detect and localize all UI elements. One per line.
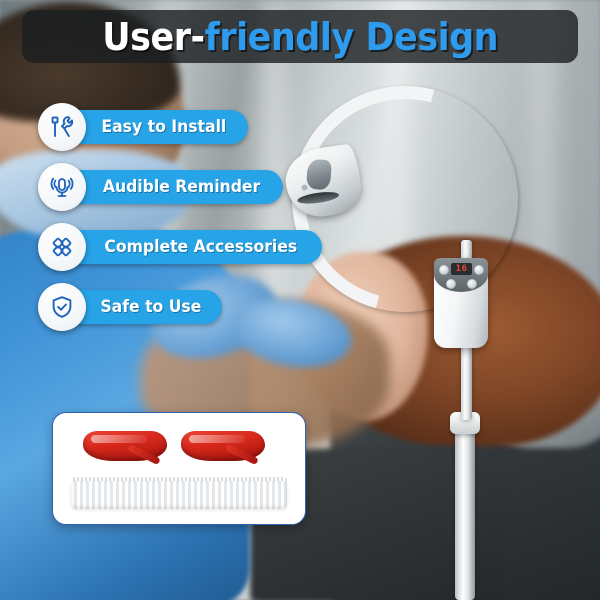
- tools-icon: [49, 114, 75, 140]
- title-banner: User-friendly Design: [22, 10, 578, 63]
- timer-display: 16: [451, 263, 472, 275]
- feature-item-complete-accessories[interactable]: Complete Accessories: [38, 224, 322, 270]
- plus-button[interactable]: [467, 279, 477, 289]
- feature-icon-badge: [38, 223, 86, 271]
- feature-item-easy-to-install[interactable]: Easy to Install: [38, 104, 322, 150]
- feature-pill[interactable]: Complete Accessories: [64, 230, 322, 264]
- red-safety-goggles-1: [83, 431, 167, 471]
- diamonds-icon: [49, 234, 75, 260]
- feature-pill[interactable]: Safe to Use: [64, 290, 222, 324]
- feature-pill[interactable]: Audible Reminder: [64, 170, 283, 204]
- lamp-stand-pole: [455, 420, 475, 600]
- mode-button[interactable]: [474, 265, 484, 275]
- feature-label: Safe to Use: [100, 299, 201, 316]
- minus-button[interactable]: [446, 279, 456, 289]
- feature-icon-badge: [38, 163, 86, 211]
- goggles-highlight: [189, 435, 245, 443]
- control-panel-face: 16: [434, 258, 488, 292]
- feature-item-safe-to-use[interactable]: Safe to Use: [38, 284, 322, 330]
- feature-label: Complete Accessories: [104, 239, 297, 256]
- feature-item-audible-reminder[interactable]: Audible Reminder: [38, 164, 322, 210]
- feature-icon-badge: [38, 103, 86, 151]
- lamp-control-box[interactable]: 16: [434, 258, 488, 348]
- feature-label: Easy to Install: [101, 119, 226, 136]
- power-button[interactable]: [439, 265, 449, 275]
- goggles-highlight: [91, 435, 147, 443]
- title-part-white: User-: [102, 15, 204, 59]
- feature-icon-badge: [38, 283, 86, 331]
- product-marketing-image: 16 User-friendly Design: [0, 0, 600, 600]
- accessories-panel: [52, 412, 306, 525]
- page-title: User-friendly Design: [102, 18, 498, 56]
- red-safety-goggles-2: [181, 431, 265, 471]
- shield-check-icon: [49, 294, 75, 320]
- white-ribbed-strip: [71, 481, 287, 509]
- feature-label: Audible Reminder: [103, 179, 260, 196]
- microphone-icon: [49, 174, 75, 200]
- feature-pill[interactable]: Easy to Install: [64, 110, 248, 144]
- title-part-blue: friendly Design: [204, 15, 498, 59]
- feature-list: Easy to Install Audible Reminder: [38, 104, 322, 344]
